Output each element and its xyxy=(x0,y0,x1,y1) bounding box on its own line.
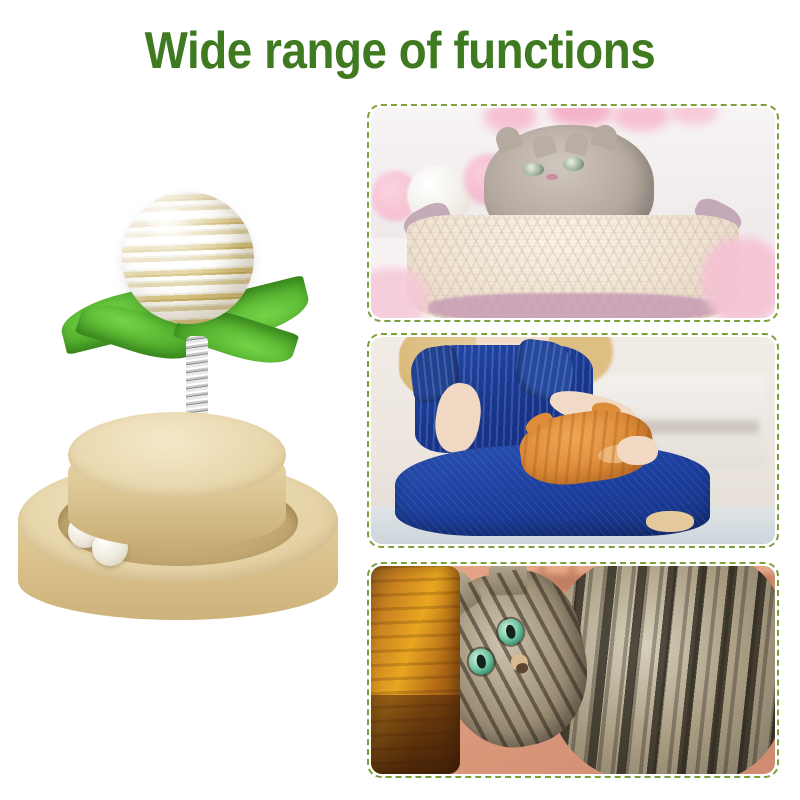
kitten-nose xyxy=(546,174,559,179)
panel-tabby-kitten-upside-down xyxy=(367,562,779,778)
photo-kitten-in-basket xyxy=(371,108,775,318)
cat-paw xyxy=(646,511,694,532)
kitten-eye-left xyxy=(523,163,544,177)
panel-girl-holding-cat xyxy=(367,333,779,548)
pink-foreground xyxy=(702,238,775,318)
kitten-eye-right xyxy=(563,157,584,171)
photo-girl-holding-cat xyxy=(371,337,775,544)
page-title: Wide range of functions xyxy=(48,22,752,80)
girl-hand xyxy=(617,436,657,465)
kitten-pupil-right xyxy=(505,625,516,640)
product-marketing-image: Wide range of functions xyxy=(0,0,800,800)
kitten-ear-left xyxy=(531,132,558,158)
ball-highlight xyxy=(146,208,196,245)
product-photo xyxy=(10,150,350,670)
basket-base xyxy=(428,293,719,318)
panel-kitten-in-basket xyxy=(367,104,779,322)
post-shadow xyxy=(371,695,460,774)
sisal-string-ball xyxy=(122,192,254,324)
upper-wooden-disc-top xyxy=(68,412,286,498)
kitten-pupil-left xyxy=(475,654,486,669)
kitten-ear-right xyxy=(564,131,590,156)
photo-tabby-kitten xyxy=(371,566,775,774)
